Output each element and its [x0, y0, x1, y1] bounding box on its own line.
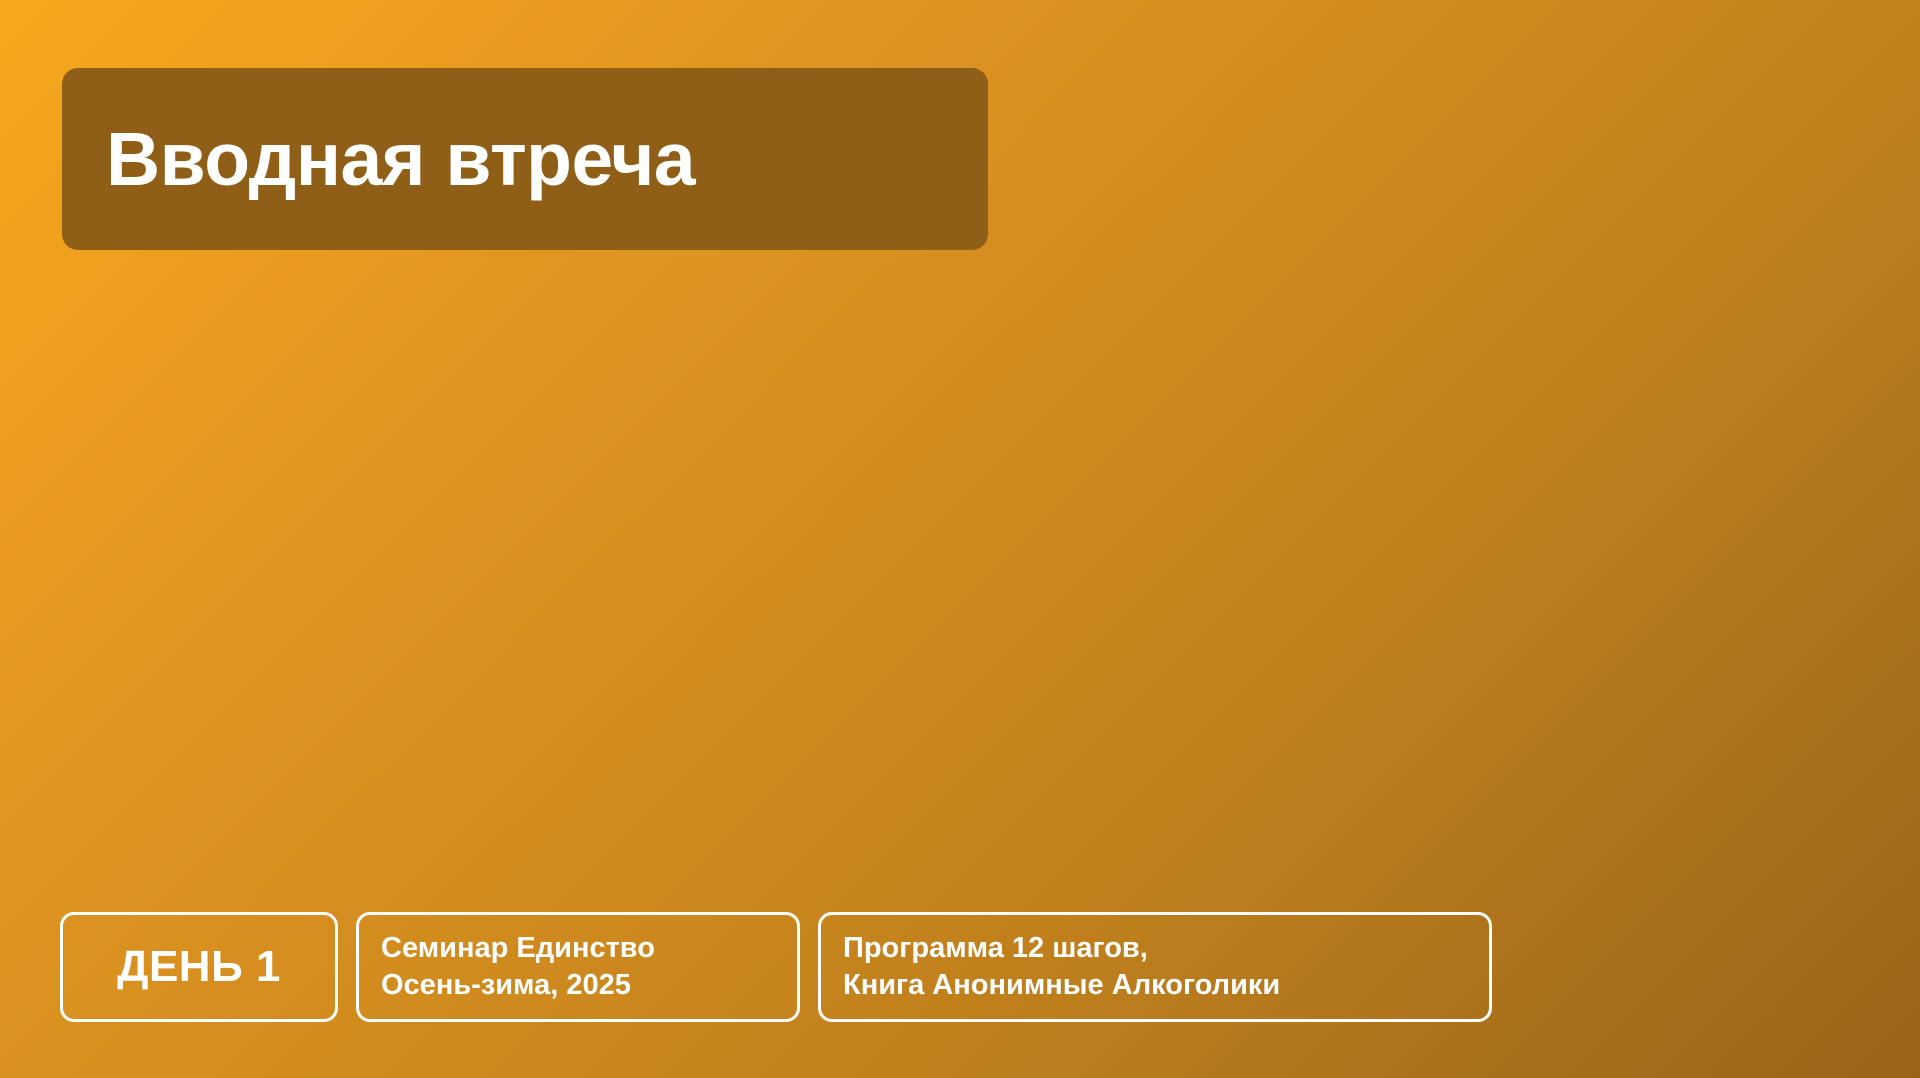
slide-title-card: Вводная втреча: [62, 68, 988, 250]
badge-program: Программа 12 шагов, Книга Анонимные Алко…: [818, 912, 1492, 1022]
badge-seminar: Семинар Единство Осень-зима, 2025: [356, 912, 800, 1022]
badge-seminar-line-2: Осень-зима, 2025: [381, 967, 631, 1004]
badge-seminar-line-1: Семинар Единство: [381, 930, 655, 967]
badge-program-line-1: Программа 12 шагов,: [843, 930, 1148, 967]
badge-day-line-1: ДЕНЬ 1: [117, 944, 281, 991]
badge-program-line-2: Книга Анонимные Алкоголики: [843, 967, 1280, 1004]
badge-day: ДЕНЬ 1: [60, 912, 338, 1022]
presentation-slide: Вводная втреча ДЕНЬ 1 Семинар Единство О…: [0, 0, 1920, 1078]
slide-title: Вводная втреча: [62, 120, 695, 199]
slide-footer-badge-row: ДЕНЬ 1 Семинар Единство Осень-зима, 2025…: [60, 912, 1492, 1022]
